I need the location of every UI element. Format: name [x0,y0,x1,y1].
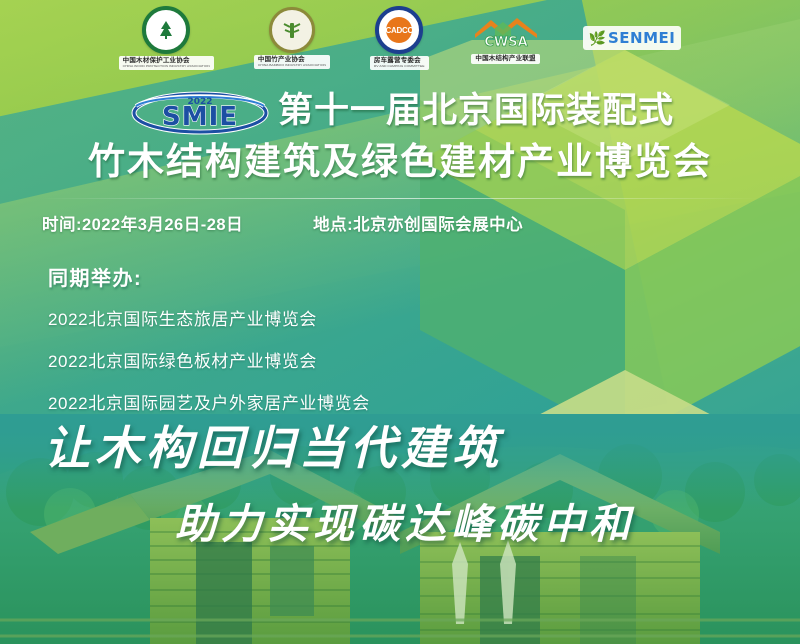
list-item: 2022北京国际生态旅居产业博览会 [48,305,370,330]
svg-text:CWSA: CWSA [484,35,527,50]
senmei-leaf-icon: 🌿 SENMEI [583,26,682,50]
slogan-block: 让木构回归当代建筑 助力实现碳达峰碳中和 [0,412,800,550]
cadcc-acronym: CADCC [386,17,412,43]
svg-text:SMIE: SMIE [162,102,238,132]
leaf-glyph: 🌿 [589,31,606,45]
sponsor-caption: 中国木结构产业联盟 [471,54,539,64]
event-meta-row: 时间:2022年3月26日-28日 地点:北京亦创国际会展中心 [42,211,800,235]
list-item: 2022北京国际园艺及户外家居产业博览会 [48,389,370,414]
exhibition-poster: 中国木材保护工业协会 CHINA WOOD PROTECTION INDUSTR… [0,0,800,644]
slogan-line-2: 助力实现碳达峰碳中和 [175,490,800,550]
sponsor-logo-cadcc: CADCC 房车露营专委会 RV AND CAMPING COMMITTEE [370,6,429,69]
pine-tree-emblem-icon [142,6,190,54]
bamboo-emblem-icon [269,7,315,53]
slogan-line-1: 让木构回归当代建筑 [44,412,800,478]
title-row: 2022 SMIE 第十一届北京国际装配式 [0,88,800,136]
headline-block: 2022 SMIE 第十一届北京国际装配式 竹木结构建筑及绿色建材产业博览会 时… [0,88,800,235]
sponsor-caption: 房车露营专委会 RV AND CAMPING COMMITTEE [370,56,429,69]
concurrent-events-title: 同期举办: [48,262,370,291]
concurrent-events-block: 同期举办: 2022北京国际生态旅居产业博览会 2022北京国际绿色板材产业博览… [48,262,370,414]
headline-divider [40,198,760,199]
smie-logo-icon: 2022 SMIE [130,88,270,136]
sponsor-logo-china-wood-protection: 中国木材保护工业协会 CHINA WOOD PROTECTION INDUSTR… [119,6,214,69]
event-venue: 地点:北京亦创国际会展中心 [313,211,523,235]
cadcc-seal-icon: CADCC [375,6,423,54]
headline-line-2: 竹木结构建筑及绿色建材产业博览会 [0,140,800,184]
senmei-wordmark: SENMEI [608,29,675,47]
list-item: 2022北京国际绿色板材产业博览会 [48,347,370,372]
event-date: 时间:2022年3月26日-28日 [42,211,243,235]
sponsor-logo-senmei: 🌿 SENMEI [583,26,682,50]
sponsor-logo-cwsa: CWSA 中国木结构产业联盟 [469,12,543,64]
house-roof-cwsa-icon: CWSA [469,12,543,52]
sponsor-caption: 中国木材保护工业协会 CHINA WOOD PROTECTION INDUSTR… [119,56,214,69]
sponsor-logo-bamboo-association: 中国竹产业协会 CHINA BAMBOO INDUSTRY ASSOCIATIO… [254,7,330,68]
sponsor-logo-strip: 中国木材保护工业协会 CHINA WOOD PROTECTION INDUSTR… [0,0,800,76]
concurrent-events-list: 2022北京国际生态旅居产业博览会 2022北京国际绿色板材产业博览会 2022… [48,305,370,414]
headline-line-1: 第十一届北京国际装配式 [278,91,674,132]
sponsor-caption: 中国竹产业协会 CHINA BAMBOO INDUSTRY ASSOCIATIO… [254,55,330,68]
